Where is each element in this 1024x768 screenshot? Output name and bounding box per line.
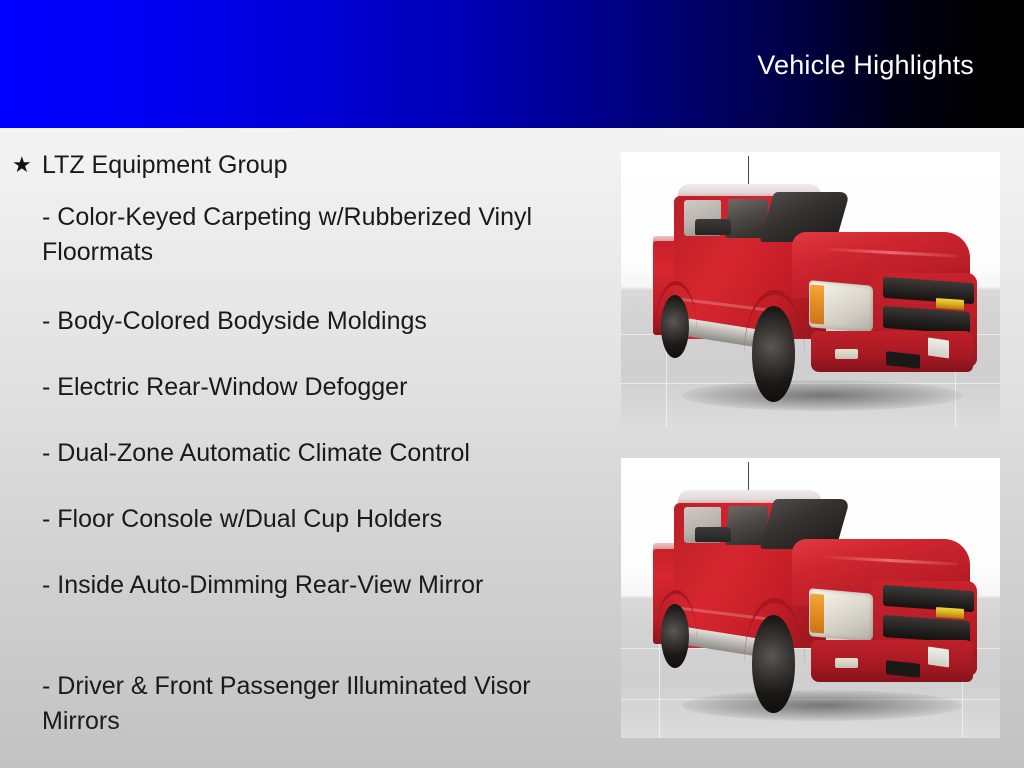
vehicle-photo-bottom[interactable] xyxy=(621,458,1000,738)
list-item-label: LTZ Equipment Group xyxy=(42,148,587,182)
list-item: - Floor Console w/Dual Cup Holders xyxy=(42,502,587,537)
header-band: Vehicle Highlights xyxy=(0,0,1024,128)
star-bullet-icon: ★ xyxy=(12,148,42,182)
truck-illustration xyxy=(621,152,1000,427)
list-item: - Electric Rear-Window Defogger xyxy=(42,370,587,405)
list-item: - Driver & Front Passenger Illuminated V… xyxy=(42,669,587,739)
highlights-list: ★ LTZ Equipment Group - Color-Keyed Carp… xyxy=(0,128,600,768)
truck-illustration xyxy=(621,458,1000,738)
vehicle-photo-top[interactable] xyxy=(621,152,1000,427)
slide-root: Vehicle Highlights ★ LTZ Equipment Group… xyxy=(0,0,1024,768)
list-item-main: ★ LTZ Equipment Group xyxy=(12,148,587,182)
page-title: Vehicle Highlights xyxy=(757,50,974,80)
list-item: - Dual-Zone Automatic Climate Control xyxy=(42,436,587,471)
list-item: - Color-Keyed Carpeting w/Rubberized Vin… xyxy=(42,200,587,270)
list-item: - Inside Auto-Dimming Rear-View Mirror xyxy=(42,568,587,603)
list-item: - Body-Colored Bodyside Moldings xyxy=(42,304,587,339)
